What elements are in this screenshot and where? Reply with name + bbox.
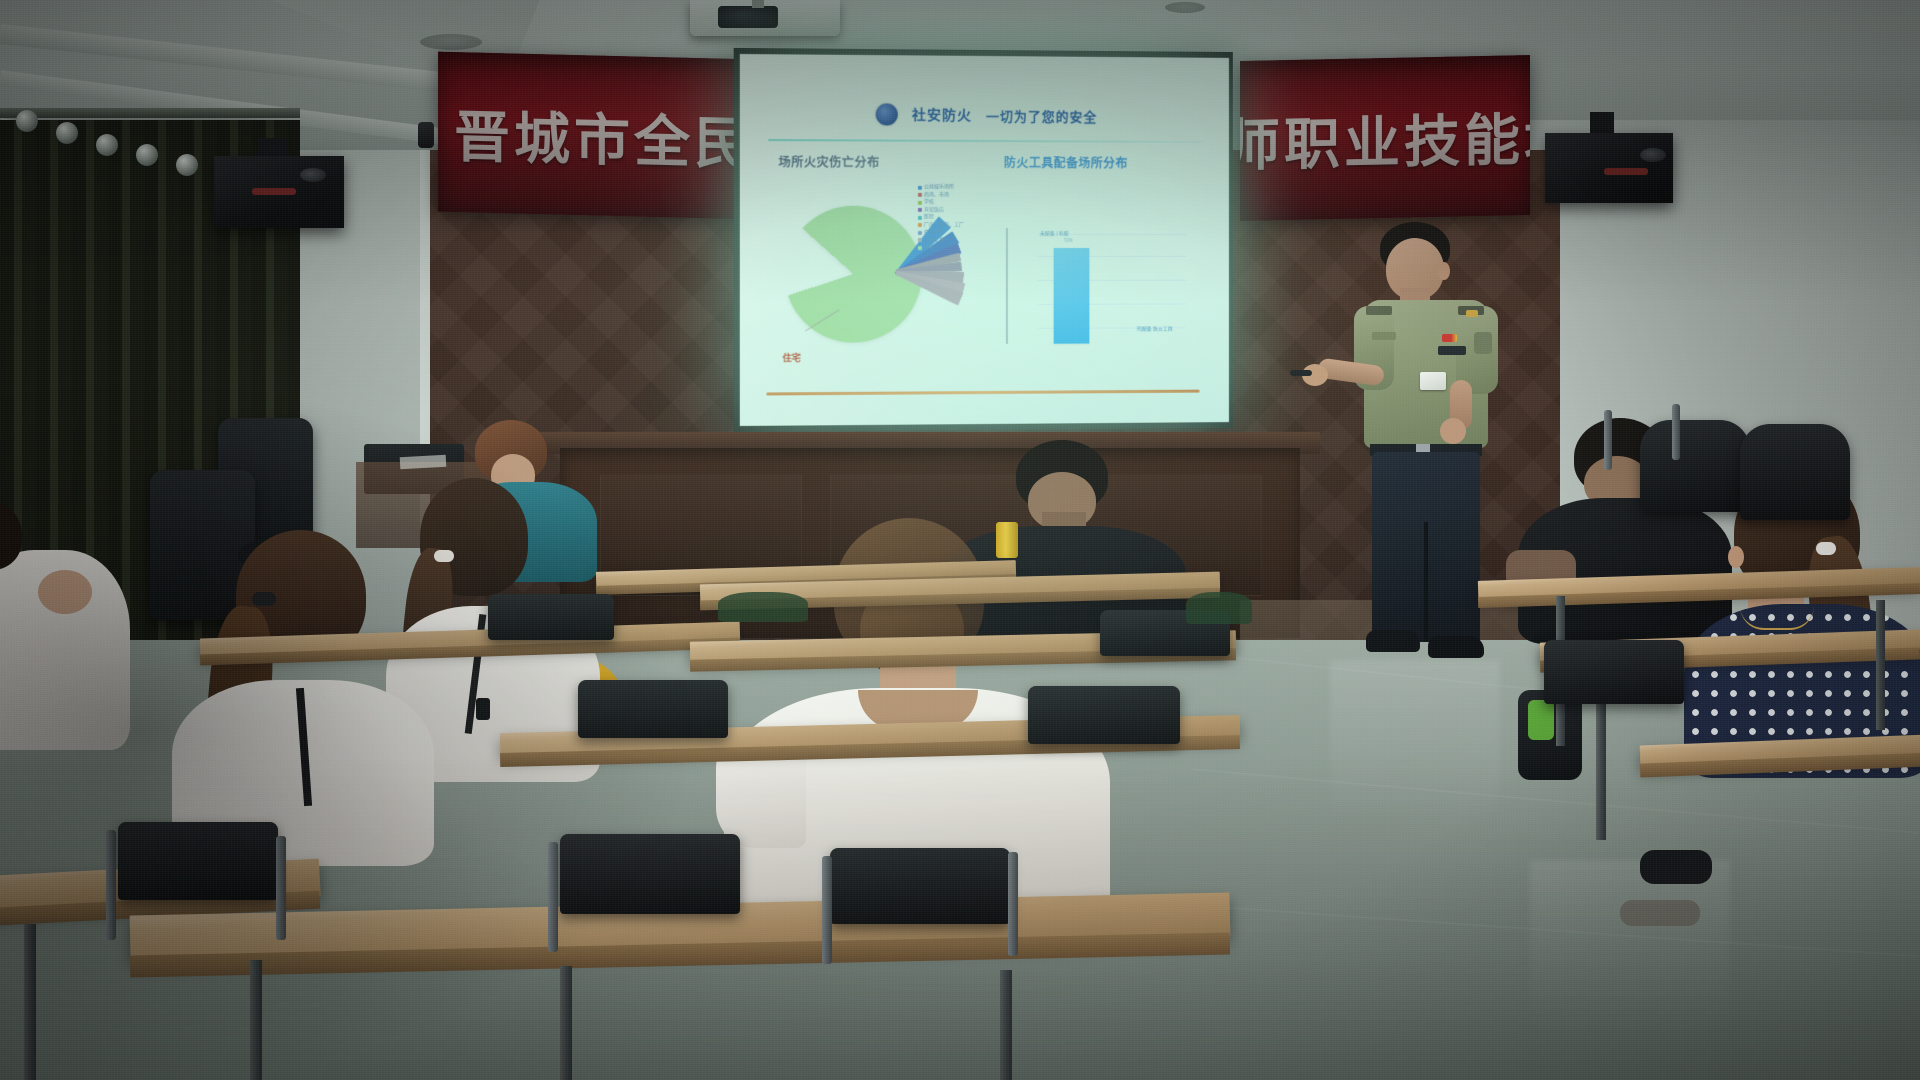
- bar-chart-title: 防火工具配备场所分布: [1004, 154, 1128, 171]
- legend-item: 商场、市场: [918, 191, 964, 199]
- chair-frame: [276, 836, 286, 940]
- banner-right-text: 师职业技能培训班: [1240, 91, 1530, 182]
- bar-note-label: 已配备 防火工具: [1137, 325, 1173, 332]
- arm-patch-icon: [1474, 332, 1492, 354]
- legend-item: 厂房、库房、工厂: [918, 221, 964, 229]
- fire-safety-logo-icon: [876, 103, 898, 125]
- ceiling-vent: [420, 34, 482, 50]
- legend-item: 医院: [918, 214, 964, 222]
- rank-insignia-icon: [1466, 310, 1478, 317]
- hair-tie: [252, 592, 276, 606]
- speaker-brand-label: [252, 188, 296, 195]
- curtain-ring: [16, 110, 38, 132]
- curtain-rail: [0, 108, 300, 118]
- slide-divider: [768, 139, 1201, 143]
- presentation-slide: 社安防火 一切为了您的安全 场所火灾伤亡分布 住宅: [740, 54, 1229, 426]
- paper-sheet: [400, 455, 447, 469]
- legend-label: 学校: [924, 199, 934, 207]
- legend-label: 交通工具: [924, 236, 944, 244]
- speaker-bracket-right: [1590, 112, 1614, 134]
- stacking-chair[interactable]: [1544, 640, 1684, 704]
- desk-leg: [1000, 970, 1012, 1080]
- audience-ear: [1728, 546, 1744, 568]
- ceiling-vent: [1165, 2, 1205, 13]
- legend-label: 厂房、库房、工厂: [924, 221, 964, 229]
- chair-frame: [1604, 410, 1612, 470]
- floor-reflection: [1530, 860, 1730, 1040]
- legend-label: 公共娱乐场所: [924, 184, 954, 192]
- presenter-shoe-left: [1366, 630, 1420, 652]
- legend-label: 医院: [924, 214, 934, 222]
- flag-patch-icon: [1442, 334, 1457, 342]
- legend-item: 办公场所: [918, 229, 964, 237]
- stacking-chair[interactable]: [1640, 420, 1750, 512]
- chair-frame: [822, 856, 832, 964]
- presenter-hand-right: [1440, 418, 1466, 444]
- slide-logo-title: 社安防火: [912, 105, 972, 125]
- legend-label: 宾馆饭店: [924, 206, 944, 214]
- shoulder-board-left: [1366, 306, 1392, 315]
- chair-frame: [1008, 852, 1018, 956]
- chair-frame: [1672, 404, 1680, 460]
- desk-leg: [560, 966, 572, 1080]
- wall-camera-icon: [418, 122, 434, 148]
- stacking-chair[interactable]: [1028, 686, 1180, 744]
- stacking-chair[interactable]: [118, 822, 278, 900]
- legend-item: 交通工具: [918, 236, 964, 244]
- trouser-split: [1424, 522, 1428, 642]
- chair-frame: [548, 842, 558, 952]
- slide-header: 社安防火 一切为了您的安全: [740, 92, 1229, 137]
- legend-item: 住宅: [918, 244, 964, 252]
- speaker-tweeter-icon: [300, 168, 326, 182]
- legend-item: 学校: [918, 199, 964, 207]
- speaker-brand-label: [1604, 168, 1648, 175]
- speaker-tweeter-icon: [1640, 148, 1666, 162]
- legend-label: 商场、市场: [924, 191, 949, 199]
- projector-lens-icon: [718, 6, 778, 28]
- bar-chart: 未配备 | 有配 72% 已配备 防火工具: [992, 176, 1200, 376]
- banner-right: 师职业技能培训班: [1240, 55, 1530, 221]
- legend-label: 住宅: [924, 244, 934, 252]
- projection-screen: 社安防火 一切为了您的安全 场所火灾伤亡分布 住宅: [740, 54, 1229, 426]
- classroom-photo-scene: 晋城市全民技能提 师职业技能培训班 社安防火 一切为了您的安全 场所火灾伤亡分布: [0, 0, 1920, 1080]
- hair-tie: [434, 550, 454, 562]
- curtain-ring: [56, 122, 78, 144]
- floor-reflection: [1330, 660, 1500, 830]
- pocket-flap: [1372, 332, 1396, 340]
- bar-data-label: 未配备 | 有配: [1040, 230, 1069, 237]
- presenter: [1330, 222, 1540, 682]
- shoe-on-floor: [1640, 850, 1712, 884]
- legend-label: 办公场所: [924, 229, 944, 237]
- stacking-chair[interactable]: [560, 834, 740, 914]
- audience-member-ponytail-mid: [190, 530, 420, 850]
- chair-frame: [106, 830, 116, 940]
- pie-legend: 公共娱乐场所 商场、市场 学校 宾馆饭店 医院 厂房、库房、工厂 办公场所 交通…: [918, 184, 964, 252]
- bag-strap-clip-icon: [476, 698, 490, 720]
- desk-leg: [250, 960, 262, 1080]
- audience-hand: [38, 570, 92, 614]
- hair-tie: [1816, 542, 1836, 555]
- curtain-ring: [176, 154, 198, 176]
- desk-leg: [1876, 600, 1885, 730]
- potted-plant: [1186, 592, 1252, 624]
- audience-member-left-edge: [0, 510, 140, 770]
- curtain-ring: [96, 134, 118, 156]
- stacking-chair[interactable]: [1740, 424, 1850, 520]
- bar-data-percent: 72%: [1064, 238, 1073, 243]
- presenter-id-badge: [1420, 372, 1446, 390]
- projector-mount: [752, 0, 764, 8]
- legend-item: 宾馆饭店: [918, 206, 964, 214]
- bar-column: [1054, 248, 1090, 344]
- slide-logo-slogan: 一切为了您的安全: [986, 105, 1097, 125]
- slide-footer-bar: [766, 390, 1199, 396]
- desk-leg: [24, 924, 36, 1080]
- presenter-ear: [1438, 262, 1450, 280]
- name-tag-icon: [1438, 346, 1466, 355]
- pie-callout-label: 住宅: [783, 351, 801, 364]
- bar-chart-axis: [1006, 228, 1008, 344]
- backpack-trim-icon: [1528, 700, 1554, 740]
- stacking-chair[interactable]: [830, 848, 1010, 924]
- stacking-chair[interactable]: [488, 594, 614, 640]
- sandal: [1620, 900, 1700, 926]
- laser-pointer: [1290, 370, 1312, 376]
- presenter-shoe-right: [1428, 636, 1484, 658]
- legend-item: 公共娱乐场所: [918, 184, 964, 192]
- pie-chart-title: 场所火灾伤亡分布: [779, 153, 880, 170]
- stacking-chair[interactable]: [578, 680, 728, 738]
- potted-plant: [718, 592, 808, 622]
- curtain-ring: [136, 144, 158, 166]
